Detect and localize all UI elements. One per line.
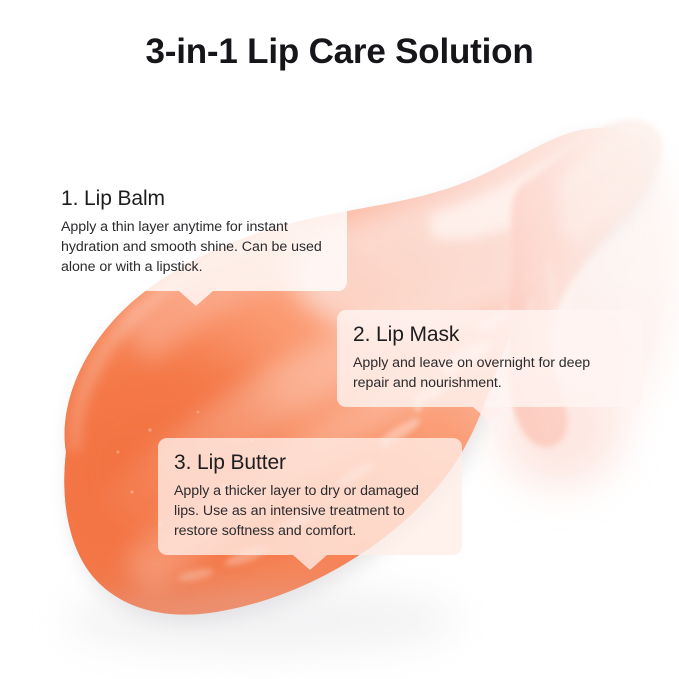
callout-body: Apply a thin layer anytime for instant h… (61, 217, 331, 277)
callout-lip-mask: 2. Lip Mask Apply and leave on overnight… (337, 310, 642, 407)
callout-pointer-icon (179, 291, 213, 306)
callout-lip-butter: 3. Lip Butter Apply a thicker layer to d… (158, 438, 462, 555)
callout-title: 2. Lip Mask (353, 323, 626, 348)
callout-pointer-icon (293, 555, 327, 570)
callout-title: 3. Lip Butter (174, 451, 446, 476)
callout-body: Apply and leave on overnight for deep re… (353, 353, 626, 393)
callout-body: Apply a thicker layer to dry or damaged … (174, 481, 446, 541)
callout-pointer-icon (473, 407, 507, 422)
callout-title: 1. Lip Balm (61, 187, 331, 212)
page-title: 3-in-1 Lip Care Solution (0, 32, 679, 72)
product-infographic: 3-in-1 Lip Care Solution (0, 0, 679, 679)
callout-lip-balm: 1. Lip Balm Apply a thin layer anytime f… (45, 174, 347, 291)
smear-ground-shadow (64, 586, 460, 654)
